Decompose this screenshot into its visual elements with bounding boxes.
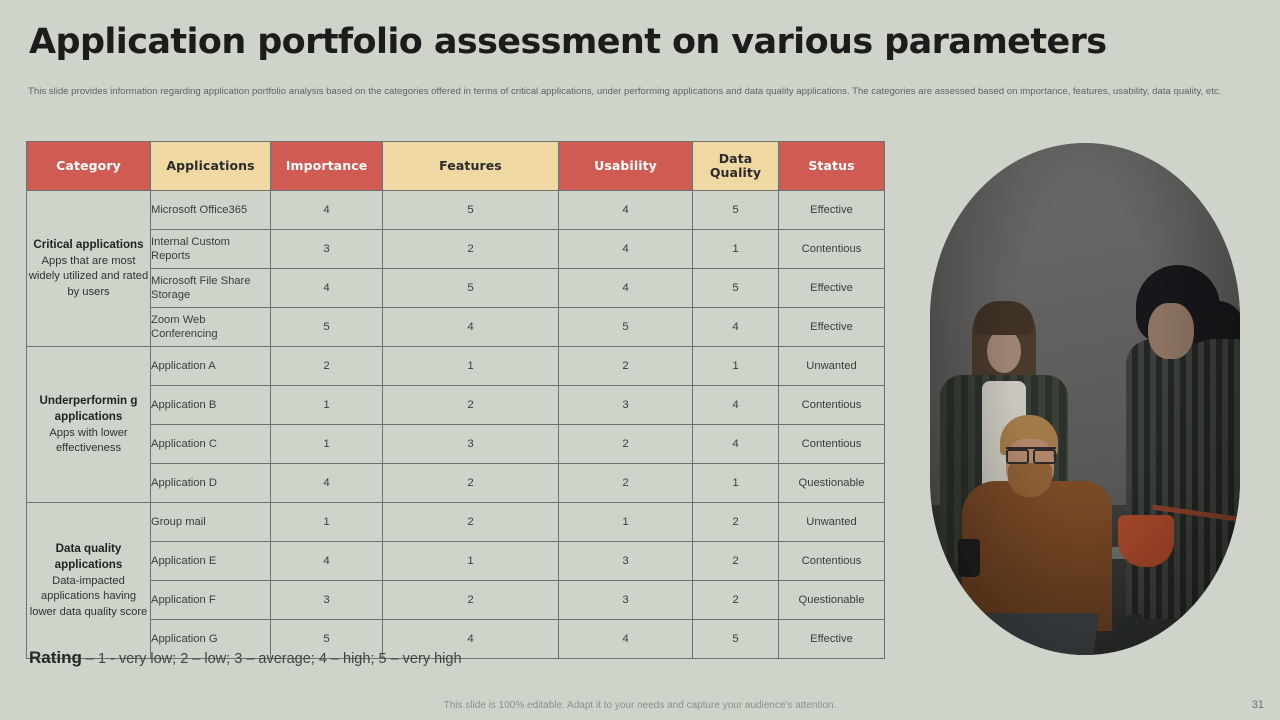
application-cell: Application F (151, 581, 271, 620)
table-header: Category Applications Importance Feature… (27, 142, 885, 191)
features-cell: 2 (383, 464, 559, 503)
application-cell: Application A (151, 347, 271, 386)
application-cell: Microsoft File Share Storage (151, 269, 271, 308)
data-quality-cell: 2 (693, 581, 779, 620)
data-quality-cell: 4 (693, 308, 779, 347)
usability-cell: 1 (559, 503, 693, 542)
features-cell: 1 (383, 542, 559, 581)
status-cell: Effective (779, 620, 885, 659)
table-row: Application E4132Contentious (27, 542, 885, 581)
features-cell: 2 (383, 503, 559, 542)
data-quality-cell: 1 (693, 230, 779, 269)
column-header-data-quality: Data Quality (693, 142, 779, 191)
status-cell: Effective (779, 308, 885, 347)
slide-canvas: Application portfolio assessment on vari… (0, 0, 1280, 720)
assessment-table: Category Applications Importance Feature… (26, 141, 885, 659)
rating-legend: Rating – 1 - very low; 2 – low; 3 – aver… (29, 648, 462, 668)
application-cell: Application B (151, 386, 271, 425)
table-row: Application B1234Contentious (27, 386, 885, 425)
photo-vignette (930, 143, 1240, 655)
importance-cell: 5 (271, 308, 383, 347)
category-description: Apps with lower effectiveness (27, 426, 150, 457)
usability-cell: 3 (559, 386, 693, 425)
usability-cell: 4 (559, 620, 693, 659)
column-header-importance: Importance (271, 142, 383, 191)
importance-cell: 3 (271, 230, 383, 269)
category-title: Data quality applications (55, 542, 123, 572)
features-cell: 5 (383, 269, 559, 308)
table-row: Application C1324Contentious (27, 425, 885, 464)
application-cell: Application D (151, 464, 271, 503)
importance-cell: 3 (271, 581, 383, 620)
assessment-table-wrapper: Category Applications Importance Feature… (26, 141, 884, 659)
importance-cell: 1 (271, 386, 383, 425)
status-cell: Effective (779, 269, 885, 308)
column-header-usability: Usability (559, 142, 693, 191)
usability-cell: 2 (559, 464, 693, 503)
category-title: Underperformin g applications (40, 394, 138, 424)
table-row: Internal Custom Reports3241Contentious (27, 230, 885, 269)
data-quality-cell: 4 (693, 386, 779, 425)
usability-cell: 3 (559, 581, 693, 620)
column-header-category: Category (27, 142, 151, 191)
usability-cell: 2 (559, 347, 693, 386)
category-cell: Underperformin g applicationsApps with l… (27, 347, 151, 503)
data-quality-cell: 2 (693, 542, 779, 581)
application-cell: Microsoft Office365 (151, 191, 271, 230)
features-cell: 1 (383, 347, 559, 386)
importance-cell: 2 (271, 347, 383, 386)
page-subtitle: This slide provides information regardin… (28, 85, 1256, 99)
features-cell: 4 (383, 308, 559, 347)
table-header-row: Category Applications Importance Feature… (27, 142, 885, 191)
footer-note: This slide is 100% editable. Adapt it to… (0, 700, 1280, 711)
status-cell: Effective (779, 191, 885, 230)
category-description: Data-impacted applications having lower … (27, 574, 150, 621)
category-cell: Critical applicationsApps that are most … (27, 191, 151, 347)
status-cell: Questionable (779, 581, 885, 620)
data-quality-cell: 1 (693, 464, 779, 503)
rating-legend-label: Rating (29, 648, 82, 667)
importance-cell: 4 (271, 269, 383, 308)
page-number: 31 (1252, 699, 1264, 711)
category-cell: Data quality applicationsData-impacted a… (27, 503, 151, 659)
table-row: Application D4221Questionable (27, 464, 885, 503)
page-title: Application portfolio assessment on vari… (29, 22, 1106, 62)
importance-cell: 4 (271, 542, 383, 581)
application-cell: Internal Custom Reports (151, 230, 271, 269)
application-cell: Group mail (151, 503, 271, 542)
features-cell: 2 (383, 581, 559, 620)
importance-cell: 1 (271, 425, 383, 464)
application-cell: Application C (151, 425, 271, 464)
usability-cell: 4 (559, 269, 693, 308)
status-cell: Contentious (779, 230, 885, 269)
application-cell: Zoom Web Conferencing (151, 308, 271, 347)
column-header-applications: Applications (151, 142, 271, 191)
table-row: Critical applicationsApps that are most … (27, 191, 885, 230)
column-header-status: Status (779, 142, 885, 191)
table-row: Zoom Web Conferencing5454Effective (27, 308, 885, 347)
rating-legend-text: – 1 - very low; 2 – low; 3 – average; 4 … (82, 651, 462, 667)
usability-cell: 3 (559, 542, 693, 581)
data-quality-cell: 5 (693, 269, 779, 308)
data-quality-cell: 1 (693, 347, 779, 386)
usability-cell: 4 (559, 191, 693, 230)
status-cell: Contentious (779, 425, 885, 464)
usability-cell: 5 (559, 308, 693, 347)
status-cell: Contentious (779, 386, 885, 425)
data-quality-cell: 2 (693, 503, 779, 542)
usability-cell: 4 (559, 230, 693, 269)
data-quality-cell: 4 (693, 425, 779, 464)
column-header-features: Features (383, 142, 559, 191)
category-title: Critical applications (33, 238, 143, 251)
status-cell: Unwanted (779, 503, 885, 542)
table-row: Data quality applicationsData-impacted a… (27, 503, 885, 542)
data-quality-cell: 5 (693, 191, 779, 230)
features-cell: 2 (383, 386, 559, 425)
features-cell: 2 (383, 230, 559, 269)
table-row: Application F3232Questionable (27, 581, 885, 620)
importance-cell: 4 (271, 191, 383, 230)
features-cell: 5 (383, 191, 559, 230)
table-row: Underperformin g applicationsApps with l… (27, 347, 885, 386)
importance-cell: 4 (271, 464, 383, 503)
table-body: Critical applicationsApps that are most … (27, 191, 885, 659)
status-cell: Questionable (779, 464, 885, 503)
data-quality-cell: 5 (693, 620, 779, 659)
table-row: Microsoft File Share Storage4545Effectiv… (27, 269, 885, 308)
category-description: Apps that are most widely utilized and r… (27, 254, 150, 301)
team-working-photo (930, 143, 1240, 655)
status-cell: Contentious (779, 542, 885, 581)
importance-cell: 1 (271, 503, 383, 542)
status-cell: Unwanted (779, 347, 885, 386)
usability-cell: 2 (559, 425, 693, 464)
application-cell: Application E (151, 542, 271, 581)
features-cell: 3 (383, 425, 559, 464)
